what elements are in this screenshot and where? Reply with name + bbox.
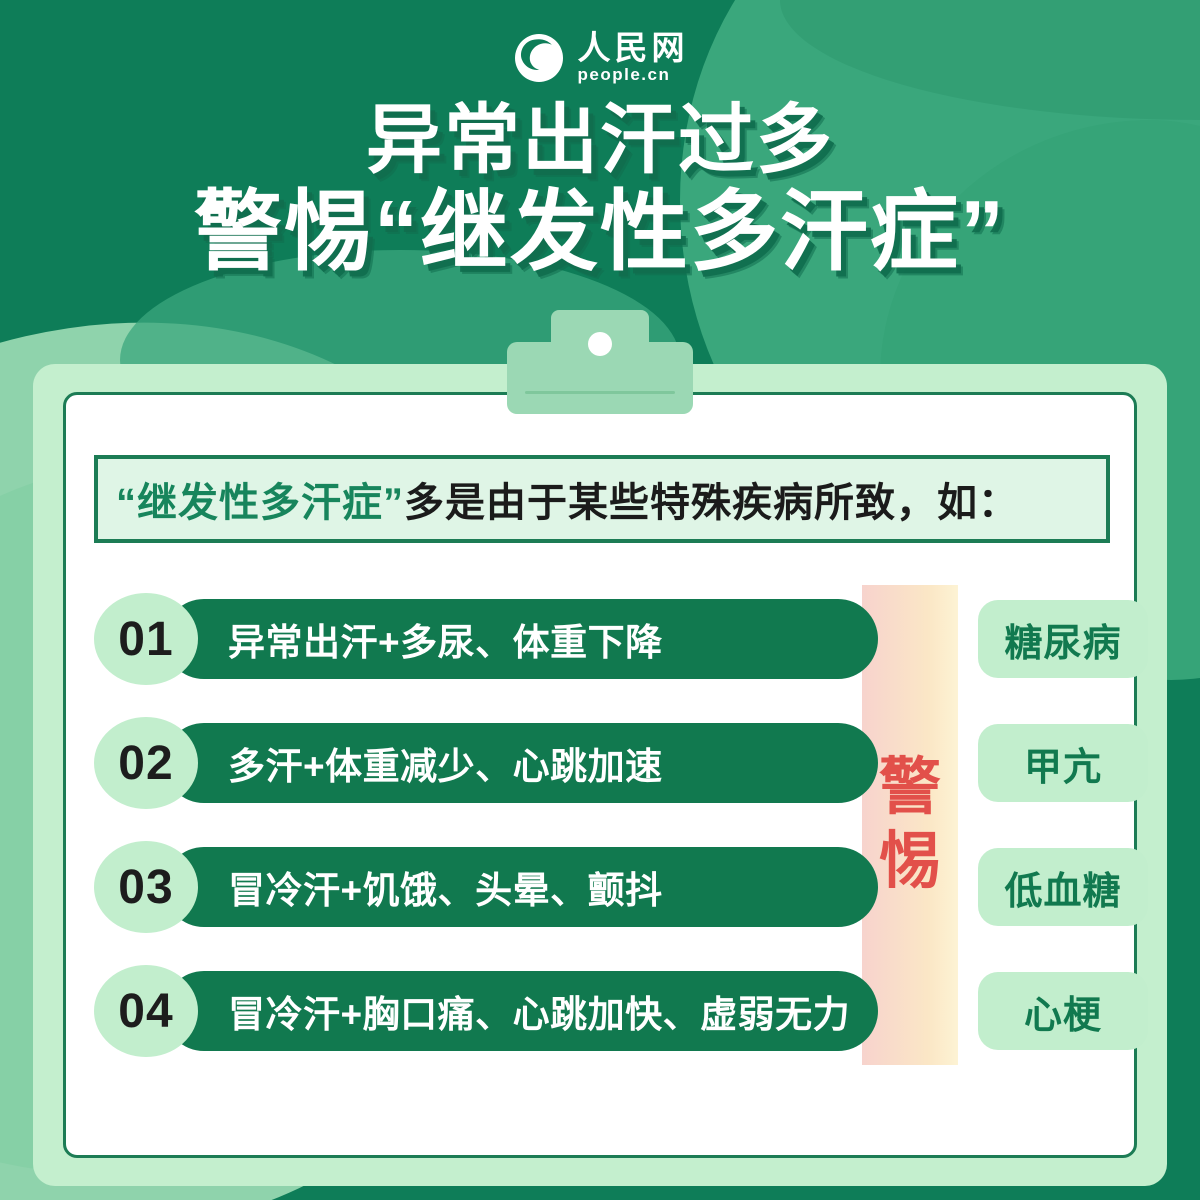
symptom-row-text: 异常出汗+多尿、体重下降 xyxy=(228,612,663,666)
intro-banner-highlight: “继发性多汗症” xyxy=(116,481,404,525)
brand-name-cn: 人民网 xyxy=(578,31,689,66)
symptom-row-pill: 多汗+体重减少、心跳加速 xyxy=(164,723,878,803)
brand-logo: 人民网 people.cn xyxy=(0,26,1200,90)
disease-tag[interactable]: 甲亢 xyxy=(978,724,1148,802)
symptom-row[interactable]: 04 冒冷汗+胸口痛、心跳加快、虚弱无力 xyxy=(94,965,1110,1057)
intro-banner: “继发性多汗症”多是由于某些特殊疾病所致，如： xyxy=(94,455,1110,543)
people-cn-swoosh-icon xyxy=(512,31,566,85)
symptom-row-pill: 异常出汗+多尿、体重下降 xyxy=(164,599,878,679)
symptom-row-number: 01 xyxy=(94,593,198,685)
symptom-row-pill: 冒冷汗+饥饿、头晕、颤抖 xyxy=(164,847,878,927)
content-card-inner: “继发性多汗症”多是由于某些特殊疾病所致，如： 警 惕 01 异常出汗+多尿、体… xyxy=(63,392,1137,1158)
page-title: 异常出汗过多 警惕“继发性多汗症” xyxy=(0,102,1200,279)
symptom-row-text: 冒冷汗+胸口痛、心跳加快、虚弱无力 xyxy=(228,984,850,1038)
clipboard-clip-icon xyxy=(507,310,693,414)
clip-dot-icon xyxy=(588,332,612,356)
poster-root: 人民网 people.cn 异常出汗过多 警惕“继发性多汗症” “继发性多汗症”… xyxy=(0,0,1200,1200)
intro-banner-text: “继发性多汗症”多是由于某些特殊疾病所致，如： xyxy=(116,470,1019,528)
disease-tag[interactable]: 心梗 xyxy=(978,972,1148,1050)
symptom-list: 警 惕 01 异常出汗+多尿、体重下降 02 多汗+体重减少、心跳加速 xyxy=(94,593,1110,1098)
symptom-row-number: 03 xyxy=(94,841,198,933)
symptom-row-number: 02 xyxy=(94,717,198,809)
clip-underline xyxy=(525,391,675,394)
symptom-row[interactable]: 02 多汗+体重减少、心跳加速 xyxy=(94,717,1110,809)
symptom-row-number: 04 xyxy=(94,965,198,1057)
page-title-line-2: 警惕“继发性多汗症” xyxy=(0,184,1200,279)
symptom-row[interactable]: 01 异常出汗+多尿、体重下降 xyxy=(94,593,1110,685)
intro-banner-rest: 多是由于某些特殊疾病所致，如： xyxy=(404,481,1019,525)
page-title-line-1: 异常出汗过多 xyxy=(0,102,1200,180)
symptom-row-pill: 冒冷汗+胸口痛、心跳加快、虚弱无力 xyxy=(164,971,878,1051)
brand-logo-text: 人民网 people.cn xyxy=(578,31,689,85)
brand-name-en: people.cn xyxy=(578,66,671,85)
symptom-row-text: 多汗+体重减少、心跳加速 xyxy=(228,736,663,790)
disease-tag[interactable]: 低血糖 xyxy=(978,848,1148,926)
symptom-row[interactable]: 03 冒冷汗+饥饿、头晕、颤抖 xyxy=(94,841,1110,933)
disease-tag[interactable]: 糖尿病 xyxy=(978,600,1148,678)
content-card: “继发性多汗症”多是由于某些特殊疾病所致，如： 警 惕 01 异常出汗+多尿、体… xyxy=(33,364,1167,1186)
symptom-row-text: 冒冷汗+饥饿、头晕、颤抖 xyxy=(228,860,663,914)
